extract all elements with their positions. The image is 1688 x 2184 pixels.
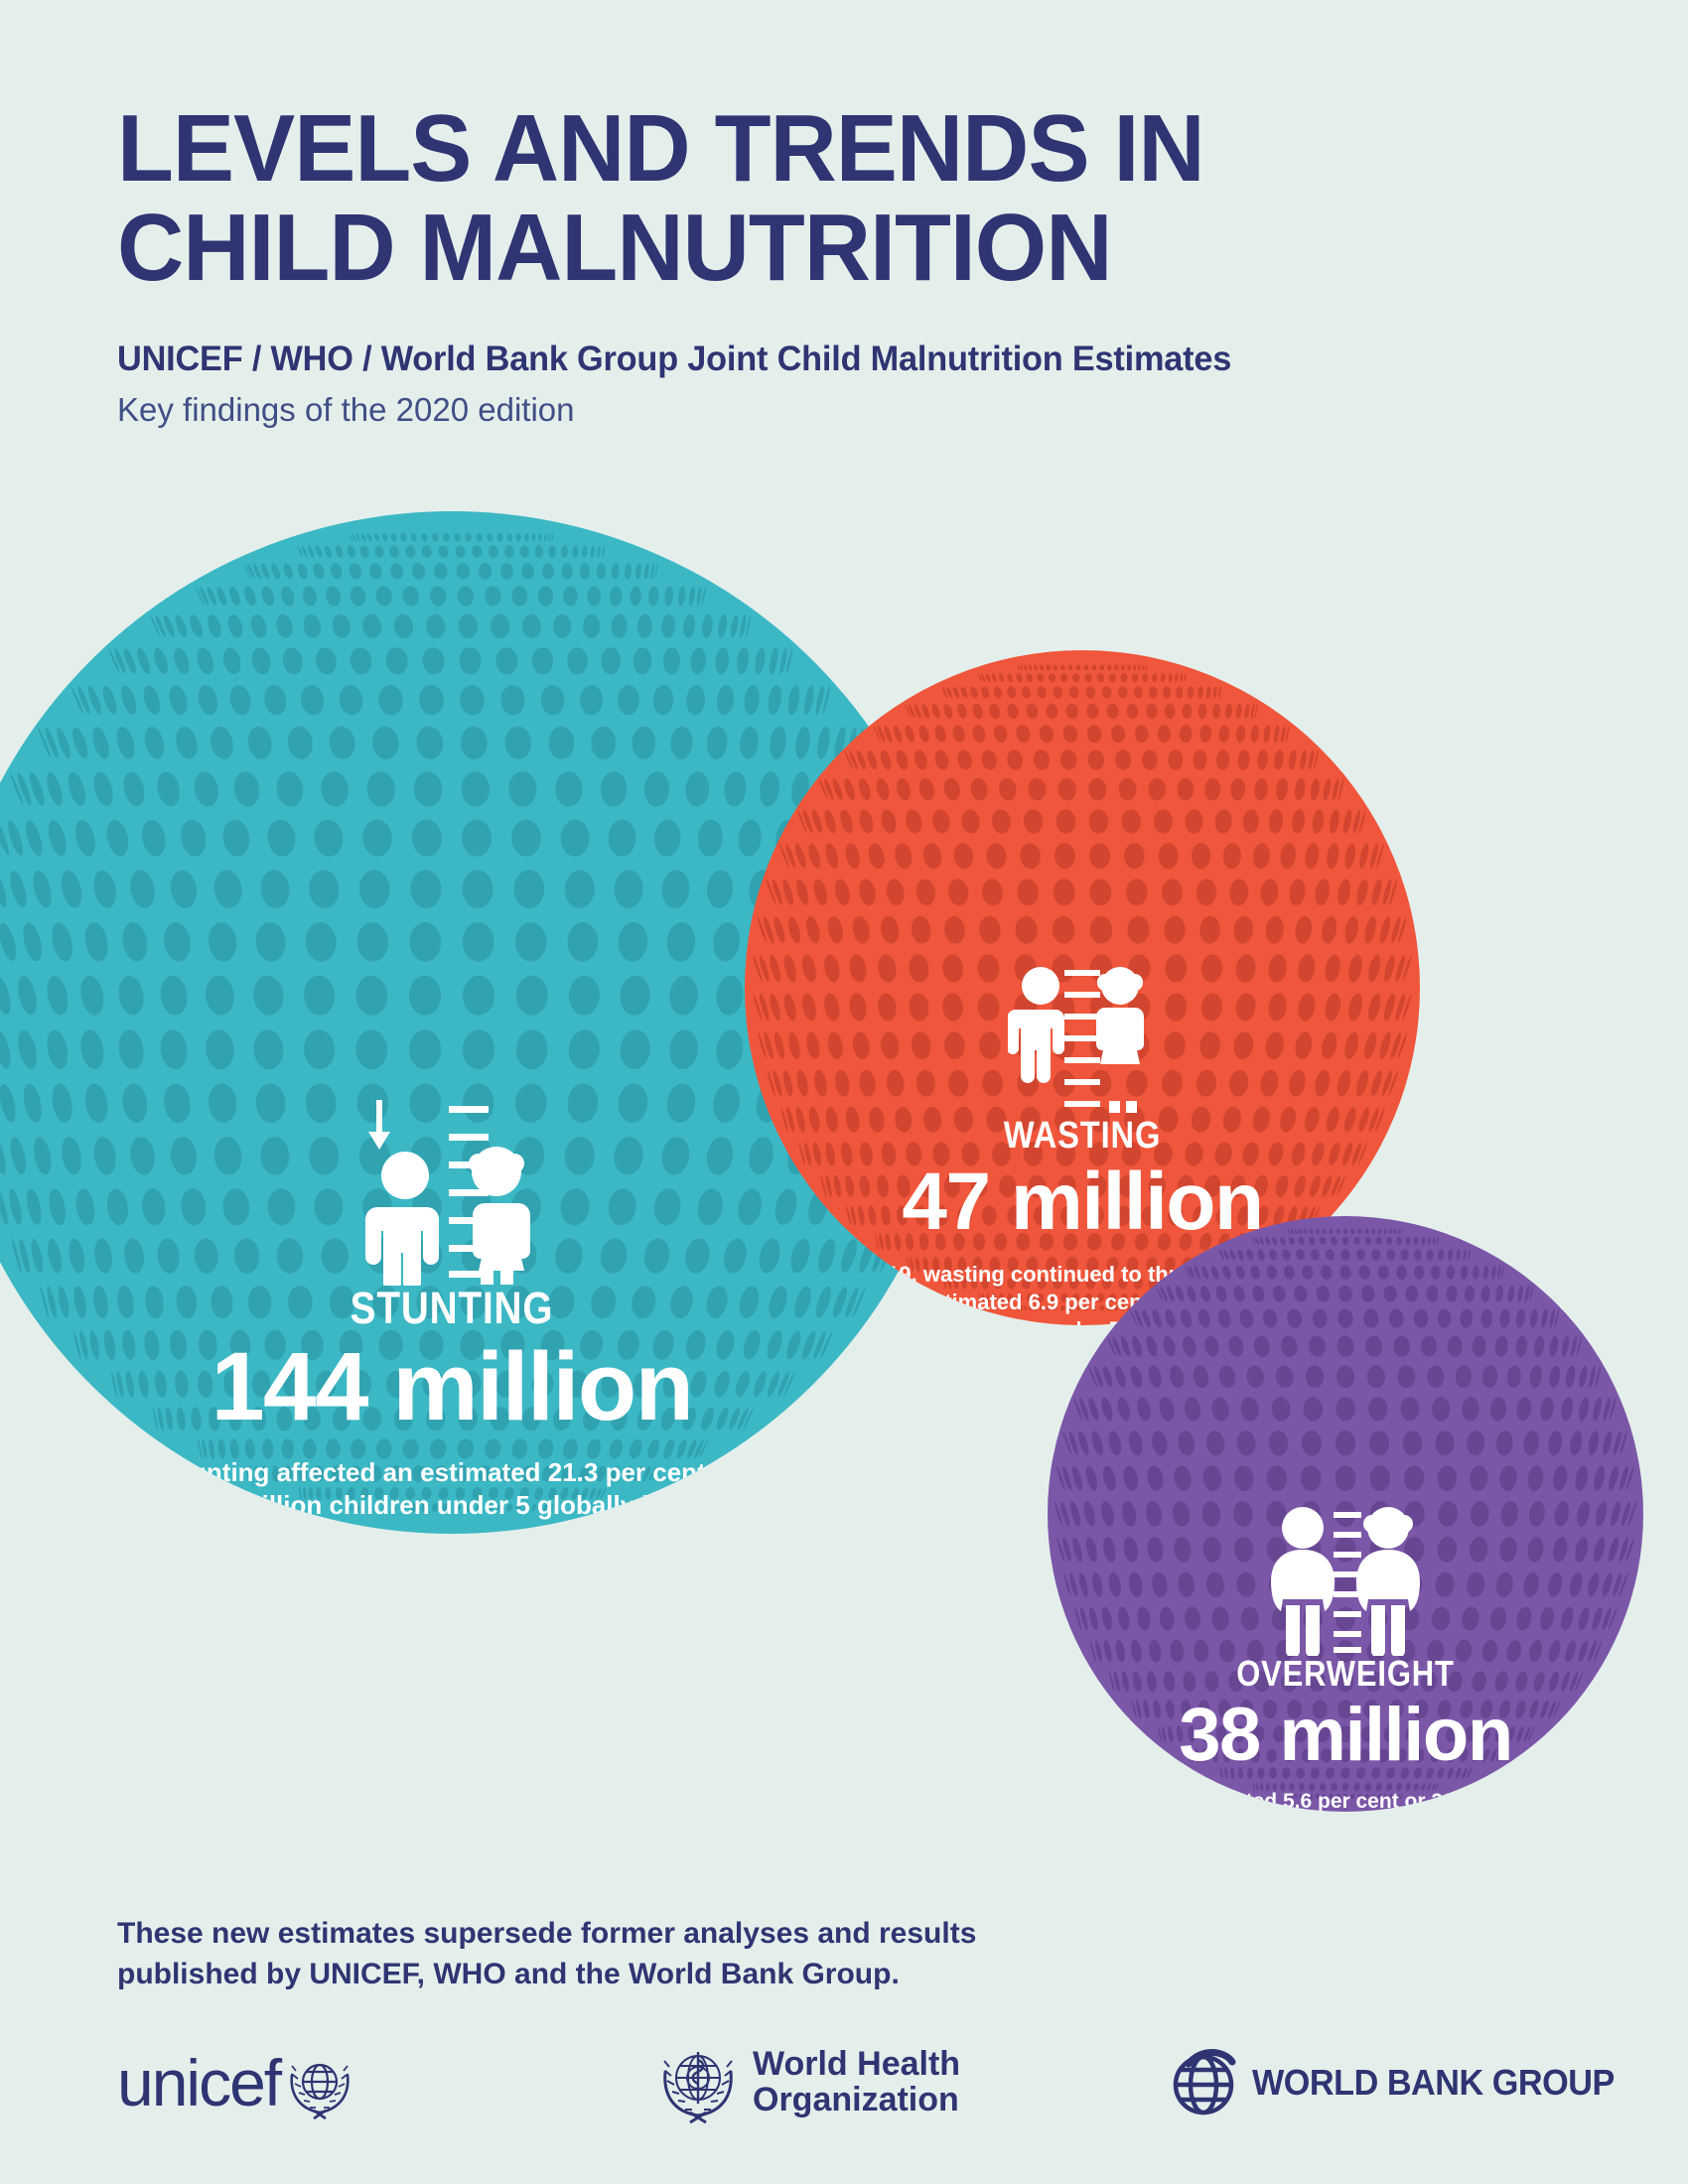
report-subtitle: UNICEF / WHO / World Bank Group Joint Ch… — [117, 340, 1499, 379]
edition-line: Key findings of the 2020 edition — [117, 391, 1527, 429]
overweight-description: An estimated 5.6 per cent or 38.3 millio… — [1122, 1789, 1569, 1812]
stunting-number: 144 million — [0, 1338, 963, 1434]
footer-note: These new estimates supersede former ana… — [117, 1914, 1209, 1994]
stunting-icon-svg — [357, 1092, 546, 1286]
page-title: LEVELS AND TRENDS IN CHILD MALNUTRITION — [117, 99, 1484, 298]
wasting-children-icon — [745, 958, 1420, 1117]
world-bank-logo: WORLD BANK GROUP — [1167, 2046, 1633, 2119]
overweight-icon-svg — [1264, 1502, 1428, 1656]
header: LEVELS AND TRENDS IN CHILD MALNUTRITION … — [117, 99, 1527, 429]
unicef-wordmark: unicef — [117, 2050, 280, 2116]
infographic-page: LEVELS AND TRENDS IN CHILD MALNUTRITION … — [0, 0, 1688, 2184]
logo-row: unicef — [0, 2040, 1688, 2169]
overweight-number: 38 million — [1048, 1698, 1643, 1773]
overweight-circle: OVERWEIGHT 38 million An estimated 5.6 p… — [1048, 1216, 1643, 1812]
wasting-icon-svg — [1008, 958, 1157, 1117]
overweight-children-icon — [1048, 1502, 1643, 1656]
un-wreath-globe-icon — [284, 2049, 355, 2120]
wasting-label: WASTING — [792, 1117, 1373, 1155]
overweight-label: OVERWEIGHT — [1089, 1656, 1602, 1692]
unicef-logo: unicef — [117, 2045, 355, 2120]
world-bank-globe-icon — [1167, 2046, 1240, 2119]
overweight-content: OVERWEIGHT 38 million An estimated 5.6 p… — [1048, 1502, 1643, 1812]
who-wordmark: World Health Organization — [753, 2047, 960, 2117]
who-logo: World Health Organization — [655, 2040, 960, 2125]
world-bank-wordmark: WORLD BANK GROUP — [1252, 2062, 1615, 2104]
who-wreath-rod-icon — [655, 2040, 741, 2125]
stunting-description: Stunting affected an estimated 21.3 per … — [134, 1456, 770, 1523]
